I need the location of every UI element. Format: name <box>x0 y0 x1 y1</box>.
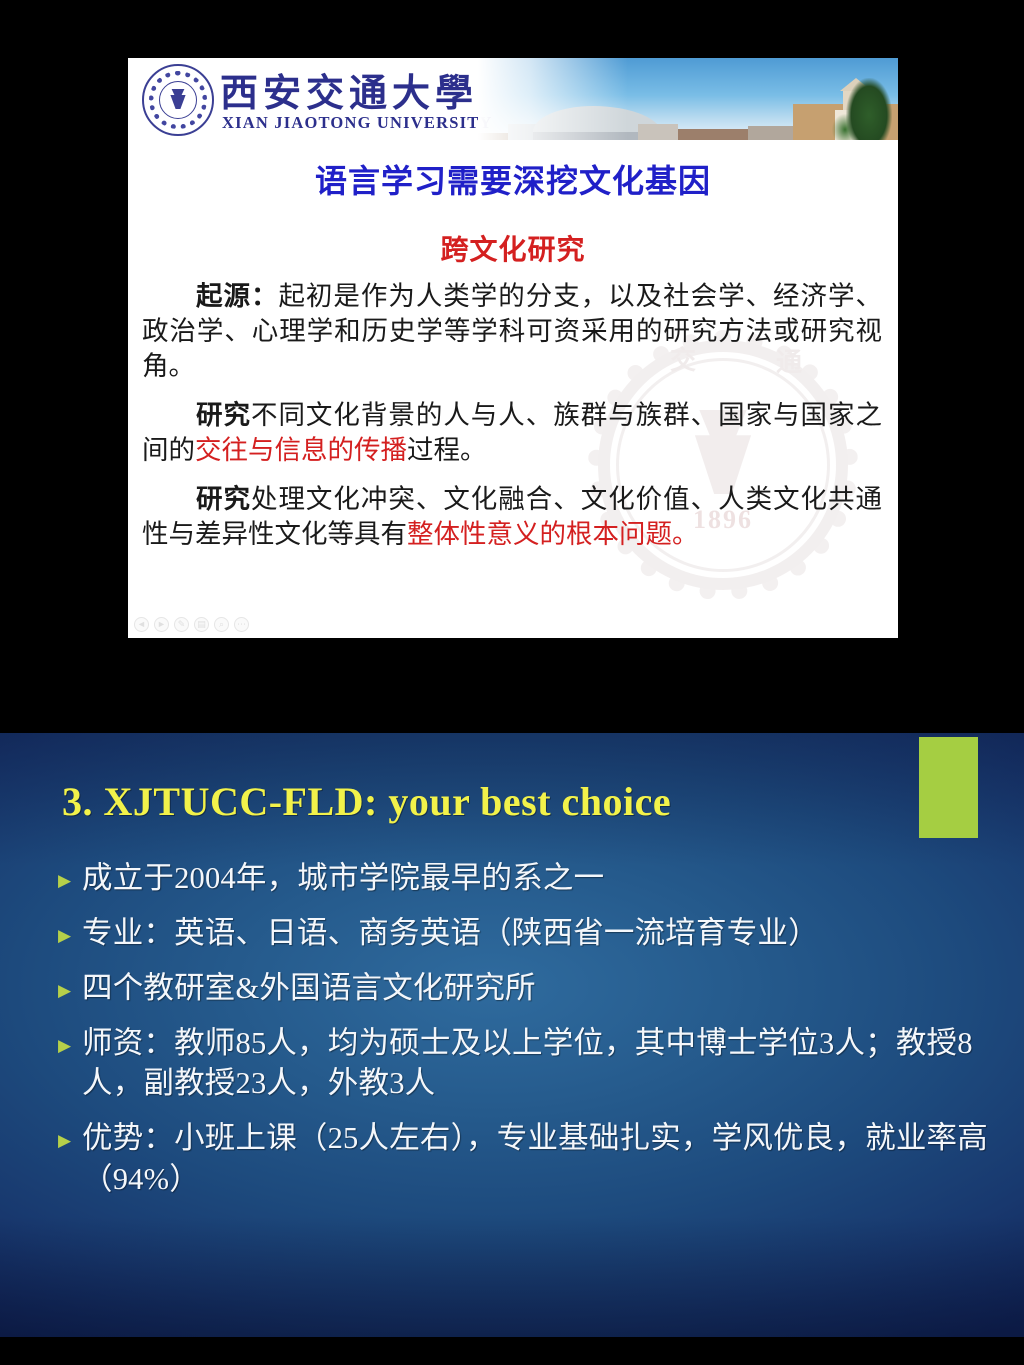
university-seal-icon <box>142 64 214 136</box>
photo-building-mid-a <box>638 124 678 140</box>
paragraph-research-communication: 研究不同文化背景的人与人、族群与族群、国家与国家之间的交往与信息的传播过程。 <box>142 399 882 469</box>
photo-building-mid-b <box>678 129 748 140</box>
paragraph-origin: 起源：起初是作为人类学的分支，以及社会学、经济学、政治学、心理学和历史学等学科可… <box>142 280 882 385</box>
university-name-english: XIAN JIAOTONG UNIVERSITY <box>222 113 493 133</box>
photo-building-mid-c <box>748 126 793 140</box>
slide-body: 1896 交 通 语言学习需要深挖文化基因 跨文化研究 起源：起初是作为人类学的… <box>128 140 898 638</box>
campus-photo-banner <box>478 58 898 140</box>
bottom-slide-title: 3. XJTUCC-FLD: your best choice <box>62 778 671 825</box>
paragraph-3-lead: 研究 <box>196 484 251 515</box>
photo-tree-large <box>846 78 892 140</box>
list-item: ▶ 师资：教师85人，均为硕士及以上学位，其中博士学位3人；教授8人，副教授23… <box>58 1023 998 1105</box>
first-slide-button[interactable]: ◄ <box>134 617 149 632</box>
bullet-text: 优势：小班上课（25人左右），专业基础扎实，学风优良，就业率高（94%） <box>82 1118 998 1200</box>
paragraph-2-lead: 研究 <box>196 400 251 431</box>
paragraph-3-highlight: 整体性意义的根本问题。 <box>407 519 699 550</box>
bullet-text: 成立于2004年，城市学院最早的系之一 <box>82 858 998 899</box>
slide-subtitle: 跨文化研究 <box>128 228 898 268</box>
pen-tool-button[interactable]: ✎ <box>174 617 189 632</box>
triangle-bullet-icon: ▶ <box>58 982 82 999</box>
slide-title: 语言学习需要深挖文化基因 <box>128 156 898 202</box>
paragraph-2-tail: 过程。 <box>407 435 487 466</box>
paragraph-2-highlight: 交往与信息的传播 <box>195 435 407 466</box>
paragraph-1-lead: 起源： <box>196 281 278 312</box>
list-item: ▶ 四个教研室&外国语言文化研究所 <box>58 968 998 1009</box>
next-slide-button[interactable]: ► <box>154 617 169 632</box>
accent-rectangle <box>919 737 978 838</box>
bullet-text: 专业：英语、日语、商务英语（陕西省一流培育专业） <box>82 913 998 954</box>
triangle-bullet-icon: ▶ <box>58 1132 82 1149</box>
bullet-list: ▶ 成立于2004年，城市学院最早的系之一 ▶ 专业：英语、日语、商务英语（陕西… <box>58 858 998 1214</box>
zoom-button[interactable]: ⌕ <box>214 617 229 632</box>
bottom-slide: 3. XJTUCC-FLD: your best choice ▶ 成立于200… <box>0 733 1024 1337</box>
triangle-bullet-icon: ▶ <box>58 872 82 889</box>
photo-building-left-low <box>508 124 568 140</box>
list-item: ▶ 专业：英语、日语、商务英语（陕西省一流培育专业） <box>58 913 998 954</box>
presentation-controls-bar[interactable]: ◄ ► ✎ ▤ ⌕ ⋯ <box>134 617 249 632</box>
triangle-bullet-icon: ▶ <box>58 1037 82 1054</box>
bullet-text: 四个教研室&外国语言文化研究所 <box>82 968 998 1009</box>
top-slide: 西安交通大學 XIAN JIAOTONG UNIVERSITY 1896 交 通… <box>128 58 898 638</box>
menu-button[interactable]: ▤ <box>194 617 209 632</box>
list-item: ▶ 成立于2004年，城市学院最早的系之一 <box>58 858 998 899</box>
more-options-button[interactable]: ⋯ <box>234 617 249 632</box>
triangle-bullet-icon: ▶ <box>58 927 82 944</box>
list-item: ▶ 优势：小班上课（25人左右），专业基础扎实，学风优良，就业率高（94%） <box>58 1118 998 1200</box>
paragraph-research-issues: 研究处理文化冲突、文化融合、文化价值、人类文化共通性与差异性文化等具有整体性意义… <box>142 483 882 553</box>
slide-header-band: 西安交通大學 XIAN JIAOTONG UNIVERSITY <box>128 58 898 140</box>
bullet-text: 师资：教师85人，均为硕士及以上学位，其中博士学位3人；教授8人，副教授23人，… <box>82 1023 998 1105</box>
university-name-chinese: 西安交通大學 <box>220 62 478 117</box>
